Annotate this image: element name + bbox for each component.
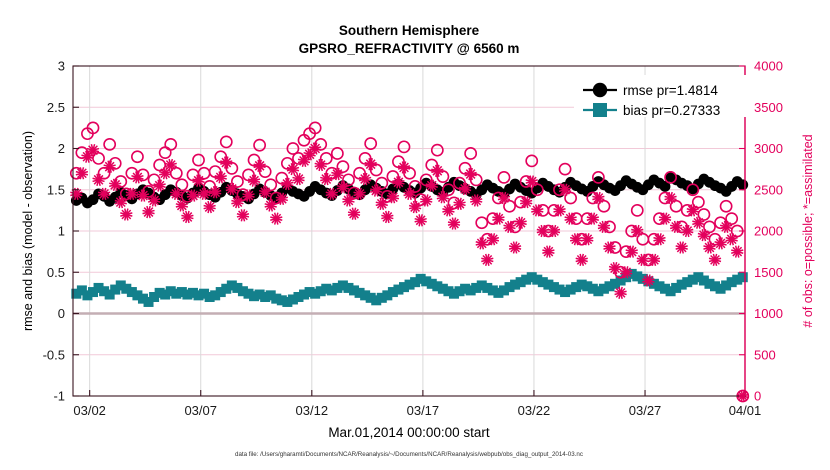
- y-tick-left: -1: [53, 389, 65, 404]
- x-tick: 03/27: [629, 403, 662, 418]
- x-tick: 04/01: [729, 403, 762, 418]
- y-tick-left: -0.5: [43, 347, 65, 362]
- x-axis-label: Mar.01,2014 00:00:00 start: [328, 425, 490, 440]
- x-tick: 03/12: [296, 403, 329, 418]
- x-tick: 03/02: [73, 403, 106, 418]
- legend-marker-bias-icon: [593, 103, 607, 117]
- y-tick-left: 3: [58, 59, 65, 74]
- y-axis-left-label: rmse and bias (model - observation): [21, 131, 35, 331]
- y-tick-right: 1000: [754, 306, 783, 321]
- y-tick-right: 500: [754, 347, 776, 362]
- y-tick-left: 0.5: [47, 265, 65, 280]
- x-tick: 03/07: [184, 403, 217, 418]
- y-axis-right-label: # of obs: o=possible; *=assimilated: [801, 134, 815, 327]
- data-file-footer: data file: /Users/gharamti/Documents/NCA…: [235, 451, 583, 458]
- legend-label-bias: bias pr=0.27333: [623, 103, 720, 118]
- y-tick-right: 3500: [754, 100, 783, 115]
- y-tick-right: 0: [754, 389, 761, 404]
- legend-marker-rmse-icon: [593, 83, 607, 97]
- legend-label-rmse: rmse pr=1.4814: [623, 83, 718, 98]
- y-tick-left: 0: [58, 306, 65, 321]
- chart-legend[interactable]: rmse pr=1.4814 bias pr=0.27333: [574, 75, 750, 118]
- y-tick-left: 2: [58, 141, 65, 156]
- y-tick-right: 3000: [754, 141, 783, 156]
- chart-title-line1: Southern Hemisphere: [339, 23, 480, 38]
- y-tick-right: 2500: [754, 182, 783, 197]
- y-tick-left: 1: [58, 224, 65, 239]
- observation-diagnostics-chart: Southern Hemisphere GPSRO_REFRACTIVITY @…: [0, 0, 830, 470]
- y-tick-right: 4000: [754, 59, 783, 74]
- y-tick-right: 2000: [754, 224, 783, 239]
- chart-title-line2: GPSRO_REFRACTIVITY @ 6560 m: [299, 41, 520, 56]
- y-tick-right: 1500: [754, 265, 783, 280]
- x-tick: 03/17: [407, 403, 440, 418]
- x-tick: 03/22: [518, 403, 551, 418]
- y-tick-left: 2.5: [47, 100, 65, 115]
- y-tick-left: 1.5: [47, 182, 65, 197]
